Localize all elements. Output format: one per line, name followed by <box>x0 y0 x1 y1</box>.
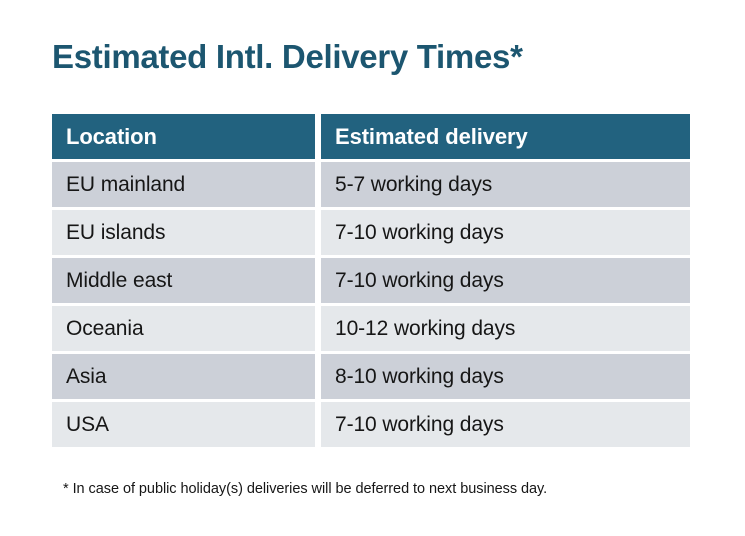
table-row: EU islands 7-10 working days <box>52 210 690 255</box>
table-row: USA 7-10 working days <box>52 402 690 447</box>
delivery-times-page: Estimated Intl. Delivery Times* Location… <box>0 0 745 536</box>
table-row: Asia 8-10 working days <box>52 354 690 399</box>
table-row: EU mainland 5-7 working days <box>52 162 690 207</box>
cell-location: EU islands <box>52 210 315 255</box>
cell-estimated-delivery: 7-10 working days <box>321 210 690 255</box>
cell-estimated-delivery: 8-10 working days <box>321 354 690 399</box>
cell-estimated-delivery: 10-12 working days <box>321 306 690 351</box>
cell-location: USA <box>52 402 315 447</box>
table-row: Oceania 10-12 working days <box>52 306 690 351</box>
table-header-row: Location Estimated delivery <box>52 114 690 159</box>
page-title: Estimated Intl. Delivery Times* <box>52 36 523 78</box>
table-row: Middle east 7-10 working days <box>52 258 690 303</box>
delivery-times-table: Location Estimated delivery EU mainland … <box>52 114 690 447</box>
cell-location: EU mainland <box>52 162 315 207</box>
cell-estimated-delivery: 7-10 working days <box>321 258 690 303</box>
cell-estimated-delivery: 5-7 working days <box>321 162 690 207</box>
table-footnote: * In case of public holiday(s) deliverie… <box>63 481 547 497</box>
cell-location: Oceania <box>52 306 315 351</box>
cell-location: Asia <box>52 354 315 399</box>
column-header-estimated-delivery: Estimated delivery <box>321 114 690 159</box>
column-header-location: Location <box>52 114 315 159</box>
cell-estimated-delivery: 7-10 working days <box>321 402 690 447</box>
cell-location: Middle east <box>52 258 315 303</box>
